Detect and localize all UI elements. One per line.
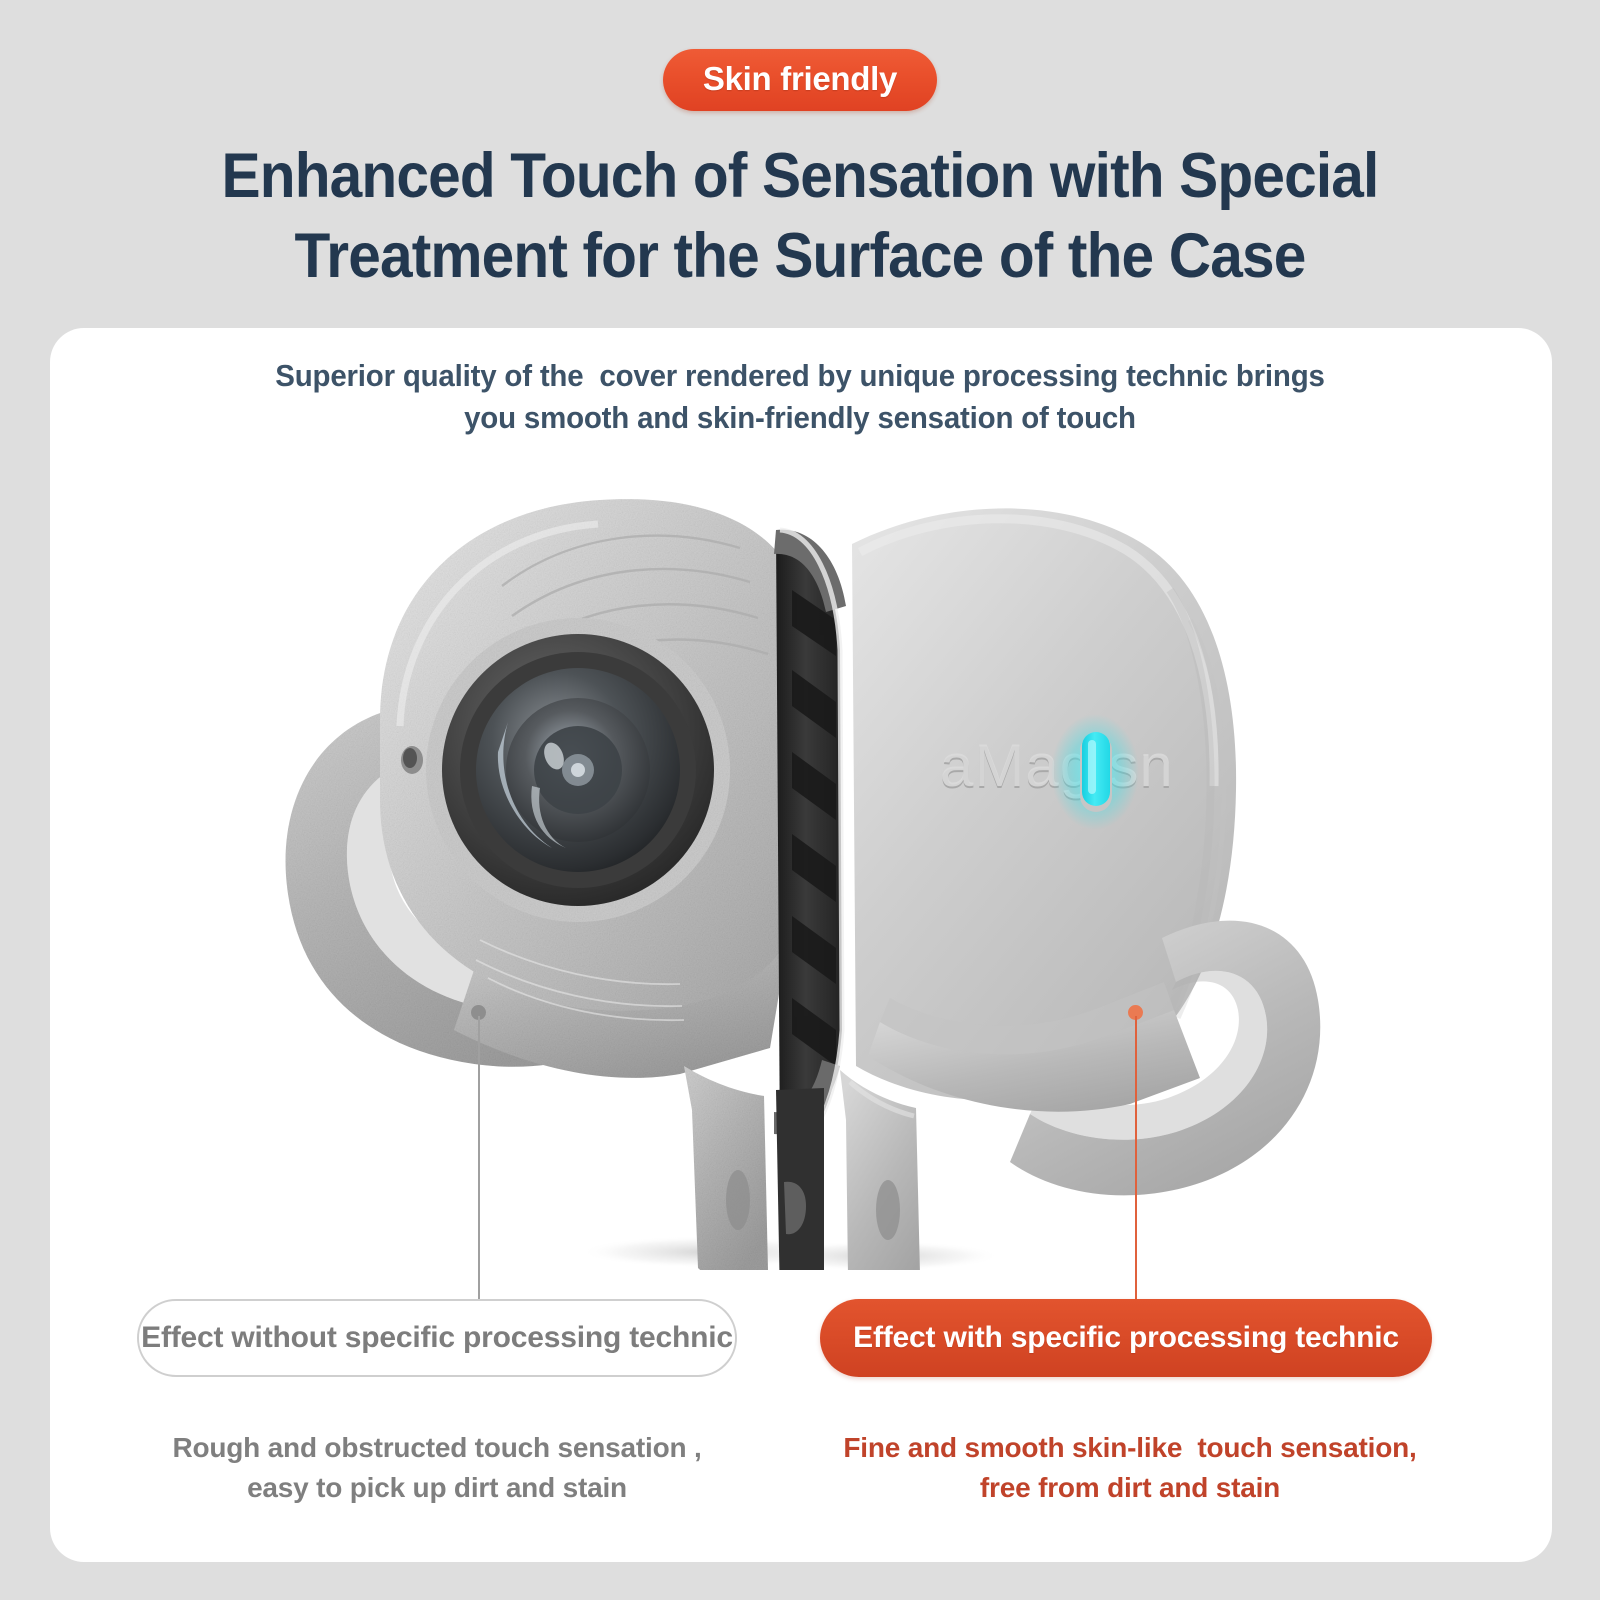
led-indicator [1051,714,1139,830]
callout-line-left [478,1016,480,1301]
page-title: Enhanced Touch of Sensation with Special… [149,136,1451,296]
callout-pill-left: Effect without specific processing techn… [137,1299,737,1377]
camera-lens [426,618,730,922]
page-subtitle: Superior quality of the cover rendered b… [259,355,1342,439]
product-feature-page: Skin friendly Enhanced Touch of Sensatio… [0,0,1600,1600]
right-mount-foot [840,1070,920,1270]
callout-line-right [1135,1016,1137,1301]
side-button-left [401,746,423,774]
callout-caption-right: Fine and smooth skin-like touch sensatio… [840,1428,1420,1508]
interior-cross-section [774,530,846,1270]
badge-container: Skin friendly [0,49,1600,111]
callout-caption-left: Rough and obstructed touch sensation , e… [157,1428,717,1508]
product-illustration: aMagisn aMagisn [240,470,1370,1270]
skin-friendly-badge: Skin friendly [663,49,937,111]
callout-pill-right: Effect with specific processing technic [820,1299,1432,1377]
